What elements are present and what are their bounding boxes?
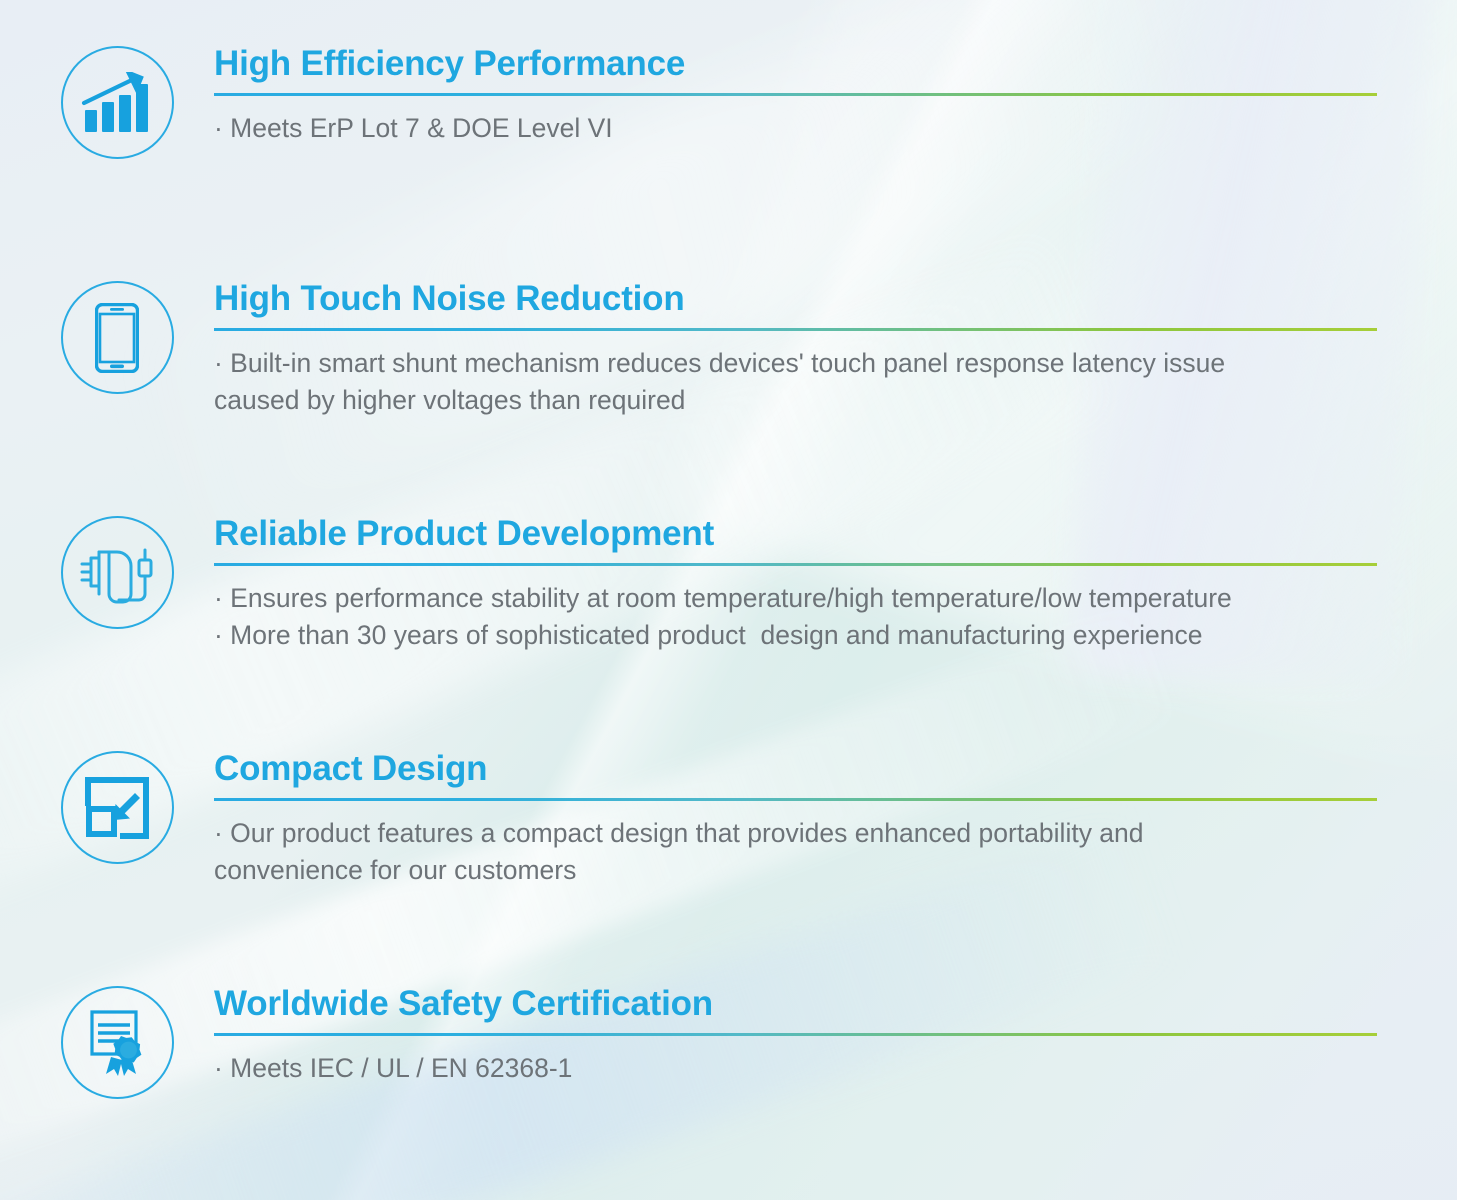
- feature-title: Worldwide Safety Certification: [214, 986, 1377, 1021]
- bullet-line: · Meets ErP Lot 7 & DOE Level VI: [214, 110, 1377, 148]
- feature-icon-wrap: [52, 751, 182, 864]
- feature-divider: [214, 563, 1377, 566]
- feature-divider: [214, 798, 1377, 801]
- feature-divider: [214, 1033, 1377, 1036]
- feature-title: High Efficiency Performance: [214, 46, 1377, 81]
- certificate-seal-icon: [61, 986, 174, 1099]
- feature-bullets: · Our product features a compact design …: [214, 815, 1377, 890]
- feature-icon-wrap: [52, 281, 182, 394]
- bullet-line: · Our product features a compact design …: [214, 815, 1377, 853]
- bullet-line: · Built-in smart shunt mechanism reduces…: [214, 345, 1377, 383]
- compact-resize-icon: [61, 751, 174, 864]
- feature-text-column: High Efficiency Performance · Meets ErP …: [214, 46, 1377, 147]
- feature-item-reliable-product-development: Reliable Product Development · Ensures p…: [0, 516, 1377, 655]
- feature-bullets: · Meets ErP Lot 7 & DOE Level VI: [214, 110, 1377, 148]
- feature-text-column: Reliable Product Development · Ensures p…: [214, 516, 1377, 655]
- feature-highlight-page: High Efficiency Performance · Meets ErP …: [0, 0, 1457, 1200]
- bullet-line-continued: caused by higher voltages than required: [214, 382, 1377, 420]
- feature-bullets: · Ensures performance stability at room …: [214, 580, 1377, 655]
- background-streak-lower: [0, 607, 1175, 1200]
- feature-divider: [214, 328, 1377, 331]
- feature-text-column: Worldwide Safety Certification · Meets I…: [214, 986, 1377, 1087]
- feature-title: High Touch Noise Reduction: [214, 281, 1377, 316]
- feature-icon-wrap: [52, 46, 182, 159]
- feature-item-worldwide-safety-certification: Worldwide Safety Certification · Meets I…: [0, 986, 1377, 1099]
- feature-title: Reliable Product Development: [214, 516, 1377, 551]
- bullet-line: · More than 30 years of sophisticated pr…: [214, 617, 1377, 655]
- feature-text-column: Compact Design · Our product features a …: [214, 751, 1377, 890]
- feature-divider: [214, 93, 1377, 96]
- feature-text-column: High Touch Noise Reduction · Built-in sm…: [214, 281, 1377, 420]
- feature-bullets: · Meets IEC / UL / EN 62368-1: [214, 1050, 1377, 1088]
- bullet-line: · Ensures performance stability at room …: [214, 580, 1377, 618]
- smartphone-icon: [61, 281, 174, 394]
- feature-item-high-efficiency-performance: High Efficiency Performance · Meets ErP …: [0, 46, 1377, 159]
- power-adapter-icon: [61, 516, 174, 629]
- feature-title: Compact Design: [214, 751, 1377, 786]
- bar-chart-growth-icon: [61, 46, 174, 159]
- bullet-line-continued: convenience for our customers: [214, 852, 1377, 890]
- feature-item-high-touch-noise-reduction: High Touch Noise Reduction · Built-in sm…: [0, 281, 1377, 420]
- feature-bullets: · Built-in smart shunt mechanism reduces…: [214, 345, 1377, 420]
- feature-icon-wrap: [52, 516, 182, 629]
- feature-item-compact-design: Compact Design · Our product features a …: [0, 751, 1377, 890]
- bullet-line: · Meets IEC / UL / EN 62368-1: [214, 1050, 1377, 1088]
- feature-icon-wrap: [52, 986, 182, 1099]
